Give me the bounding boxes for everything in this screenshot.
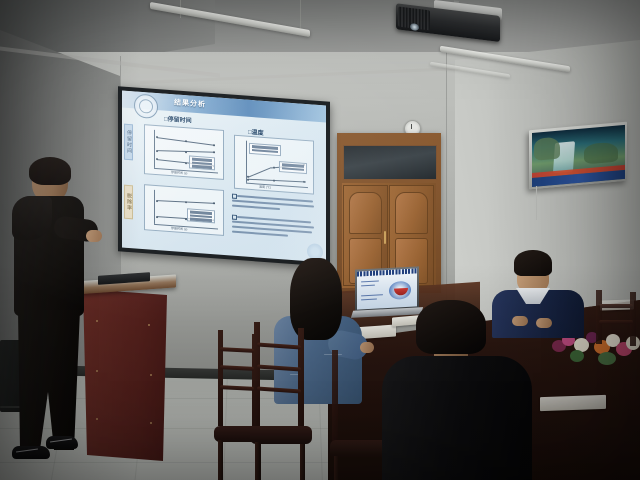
audience-man-foreground — [382, 300, 532, 480]
presenter-hair — [29, 157, 71, 185]
door-panel — [395, 192, 428, 234]
wall-mounted-tv[interactable] — [529, 122, 627, 190]
presenter-at-podium — [10, 160, 100, 470]
chart-legend — [187, 208, 215, 223]
y-axis — [154, 130, 155, 168]
presentation-slide: 结果分析 □停留时间 □温度 停留时间 脱除率 停留时间 (s) — [122, 91, 326, 263]
paper-sheet — [540, 395, 606, 411]
chart-legend-ratio — [279, 161, 307, 174]
black-shirt — [382, 356, 532, 480]
projection-screen[interactable]: 结果分析 □停留时间 □温度 停留时间 脱除率 停留时间 (s) — [118, 86, 330, 267]
slide-vertical-label-bottom: 脱除率 — [124, 185, 133, 220]
chart-right: 温度 (℃) — [234, 135, 314, 195]
chart-legend — [249, 143, 281, 156]
series-line — [248, 167, 272, 177]
landscape-rock — [584, 141, 618, 164]
tv-screen — [532, 124, 625, 186]
landscape-rock — [534, 136, 560, 160]
x-axis-label: 停留时间 (s) — [171, 170, 187, 175]
presenter-hand — [86, 230, 102, 242]
conference-room-photo: 结果分析 □停留时间 □温度 停留时间 脱除率 停留时间 (s) — [0, 0, 640, 480]
wooden-chair[interactable] — [596, 290, 640, 370]
slide-vertical-label-top: 停留时间 — [124, 124, 133, 161]
door-handle[interactable] — [384, 231, 386, 244]
wooden-chair[interactable] — [250, 322, 312, 480]
laptop-slide-header — [357, 268, 417, 276]
x-axis-label: 停留时间 (s) — [171, 226, 187, 231]
tv-cable — [536, 186, 537, 220]
presenter-shoe — [46, 436, 78, 449]
x-axis-label: 温度 (℃) — [259, 185, 271, 190]
presenter-legs — [18, 310, 80, 450]
door-panel — [349, 192, 382, 234]
lamp-wire — [300, 0, 301, 30]
slide-section-header-left: □停留时间 — [164, 114, 192, 125]
chart-legend — [189, 155, 215, 170]
chart-top-left: 停留时间 (s) — [144, 124, 224, 180]
tv-bezel — [529, 122, 627, 190]
x-axis — [246, 183, 308, 188]
y-axis — [154, 190, 155, 224]
man-hair — [416, 300, 486, 354]
man-hair — [514, 250, 552, 276]
presenter-shoe — [12, 446, 50, 459]
bullet-marker — [232, 194, 237, 199]
transom-window — [343, 145, 437, 180]
series-line — [248, 179, 306, 183]
man-hand — [536, 318, 552, 328]
bullet-marker — [232, 215, 237, 220]
chart-bottom-left: 停留时间 (s) — [144, 184, 224, 236]
